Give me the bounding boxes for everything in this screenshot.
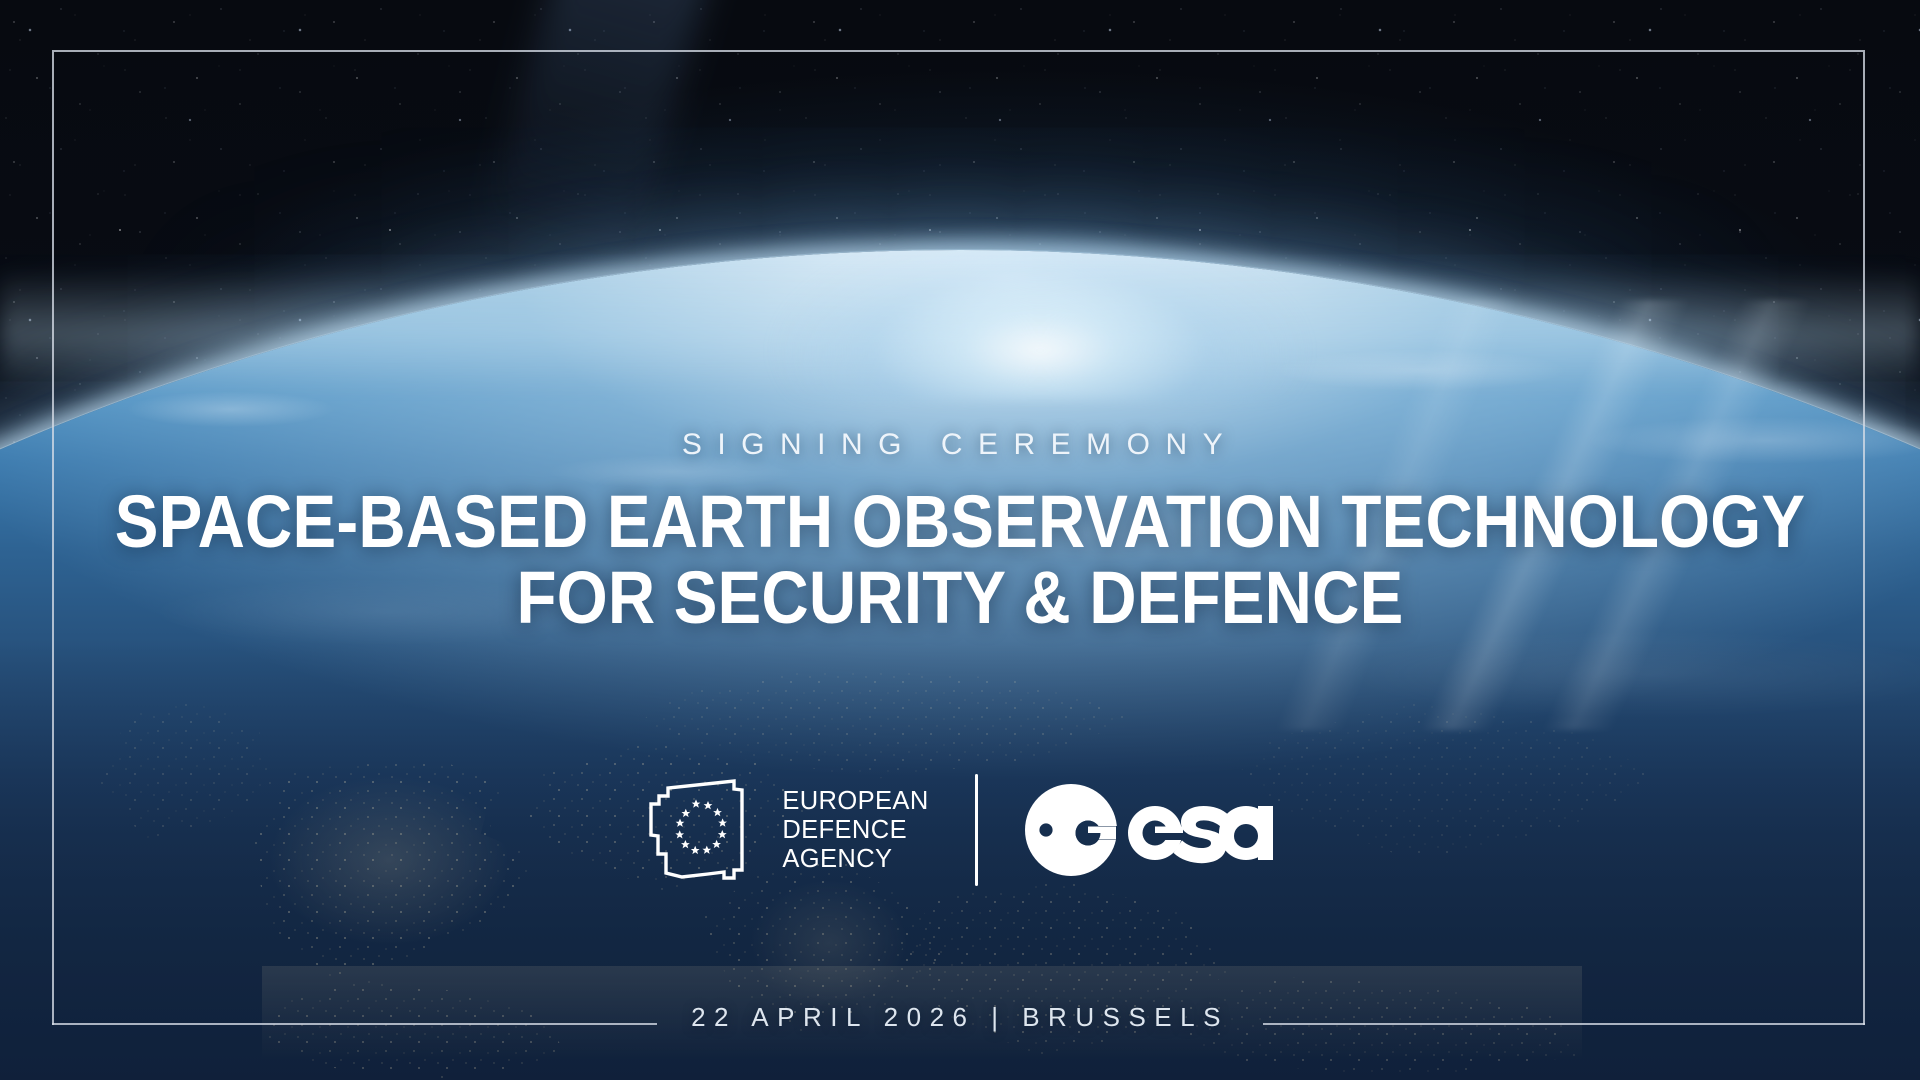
- eda-wordmark-line-1: EUROPEAN: [782, 787, 928, 816]
- eda-wordmark-line-2: DEFENCE: [782, 816, 928, 845]
- event-dateline-text: 22 APRIL 2026 | BRUSSELS: [675, 1002, 1245, 1033]
- esa-logo[interactable]: esa: [1024, 783, 1274, 877]
- eda-wordmark: EUROPEAN DEFENCE AGENCY: [782, 787, 928, 874]
- page-title-line-2: FOR SECURITY & DEFENCE: [110, 560, 1809, 636]
- eda-wordmark-line-3: AGENCY: [782, 845, 928, 874]
- event-eyebrow: SIGNING CEREMONY: [0, 428, 1920, 462]
- logo-lockup: EUROPEAN DEFENCE AGENCY: [0, 770, 1920, 890]
- eda-logo[interactable]: EUROPEAN DEFENCE AGENCY: [646, 770, 928, 890]
- poster-canvas: SIGNING CEREMONY SPACE-BASED EARTH OBSER…: [0, 0, 1920, 1080]
- esa-wordmark-icon: [1024, 783, 1274, 877]
- eu-stars-circle: [676, 799, 728, 854]
- eda-europe-outline-icon: [646, 774, 762, 886]
- page-title: SPACE-BASED EARTH OBSERVATION TECHNOLOGY…: [110, 484, 1809, 636]
- page-title-line-1: SPACE-BASED EARTH OBSERVATION TECHNOLOGY: [115, 480, 1806, 563]
- logo-divider: [975, 774, 978, 886]
- poster-content: SIGNING CEREMONY SPACE-BASED EARTH OBSER…: [0, 0, 1920, 1080]
- event-dateline: 22 APRIL 2026 | BRUSSELS: [0, 1002, 1920, 1033]
